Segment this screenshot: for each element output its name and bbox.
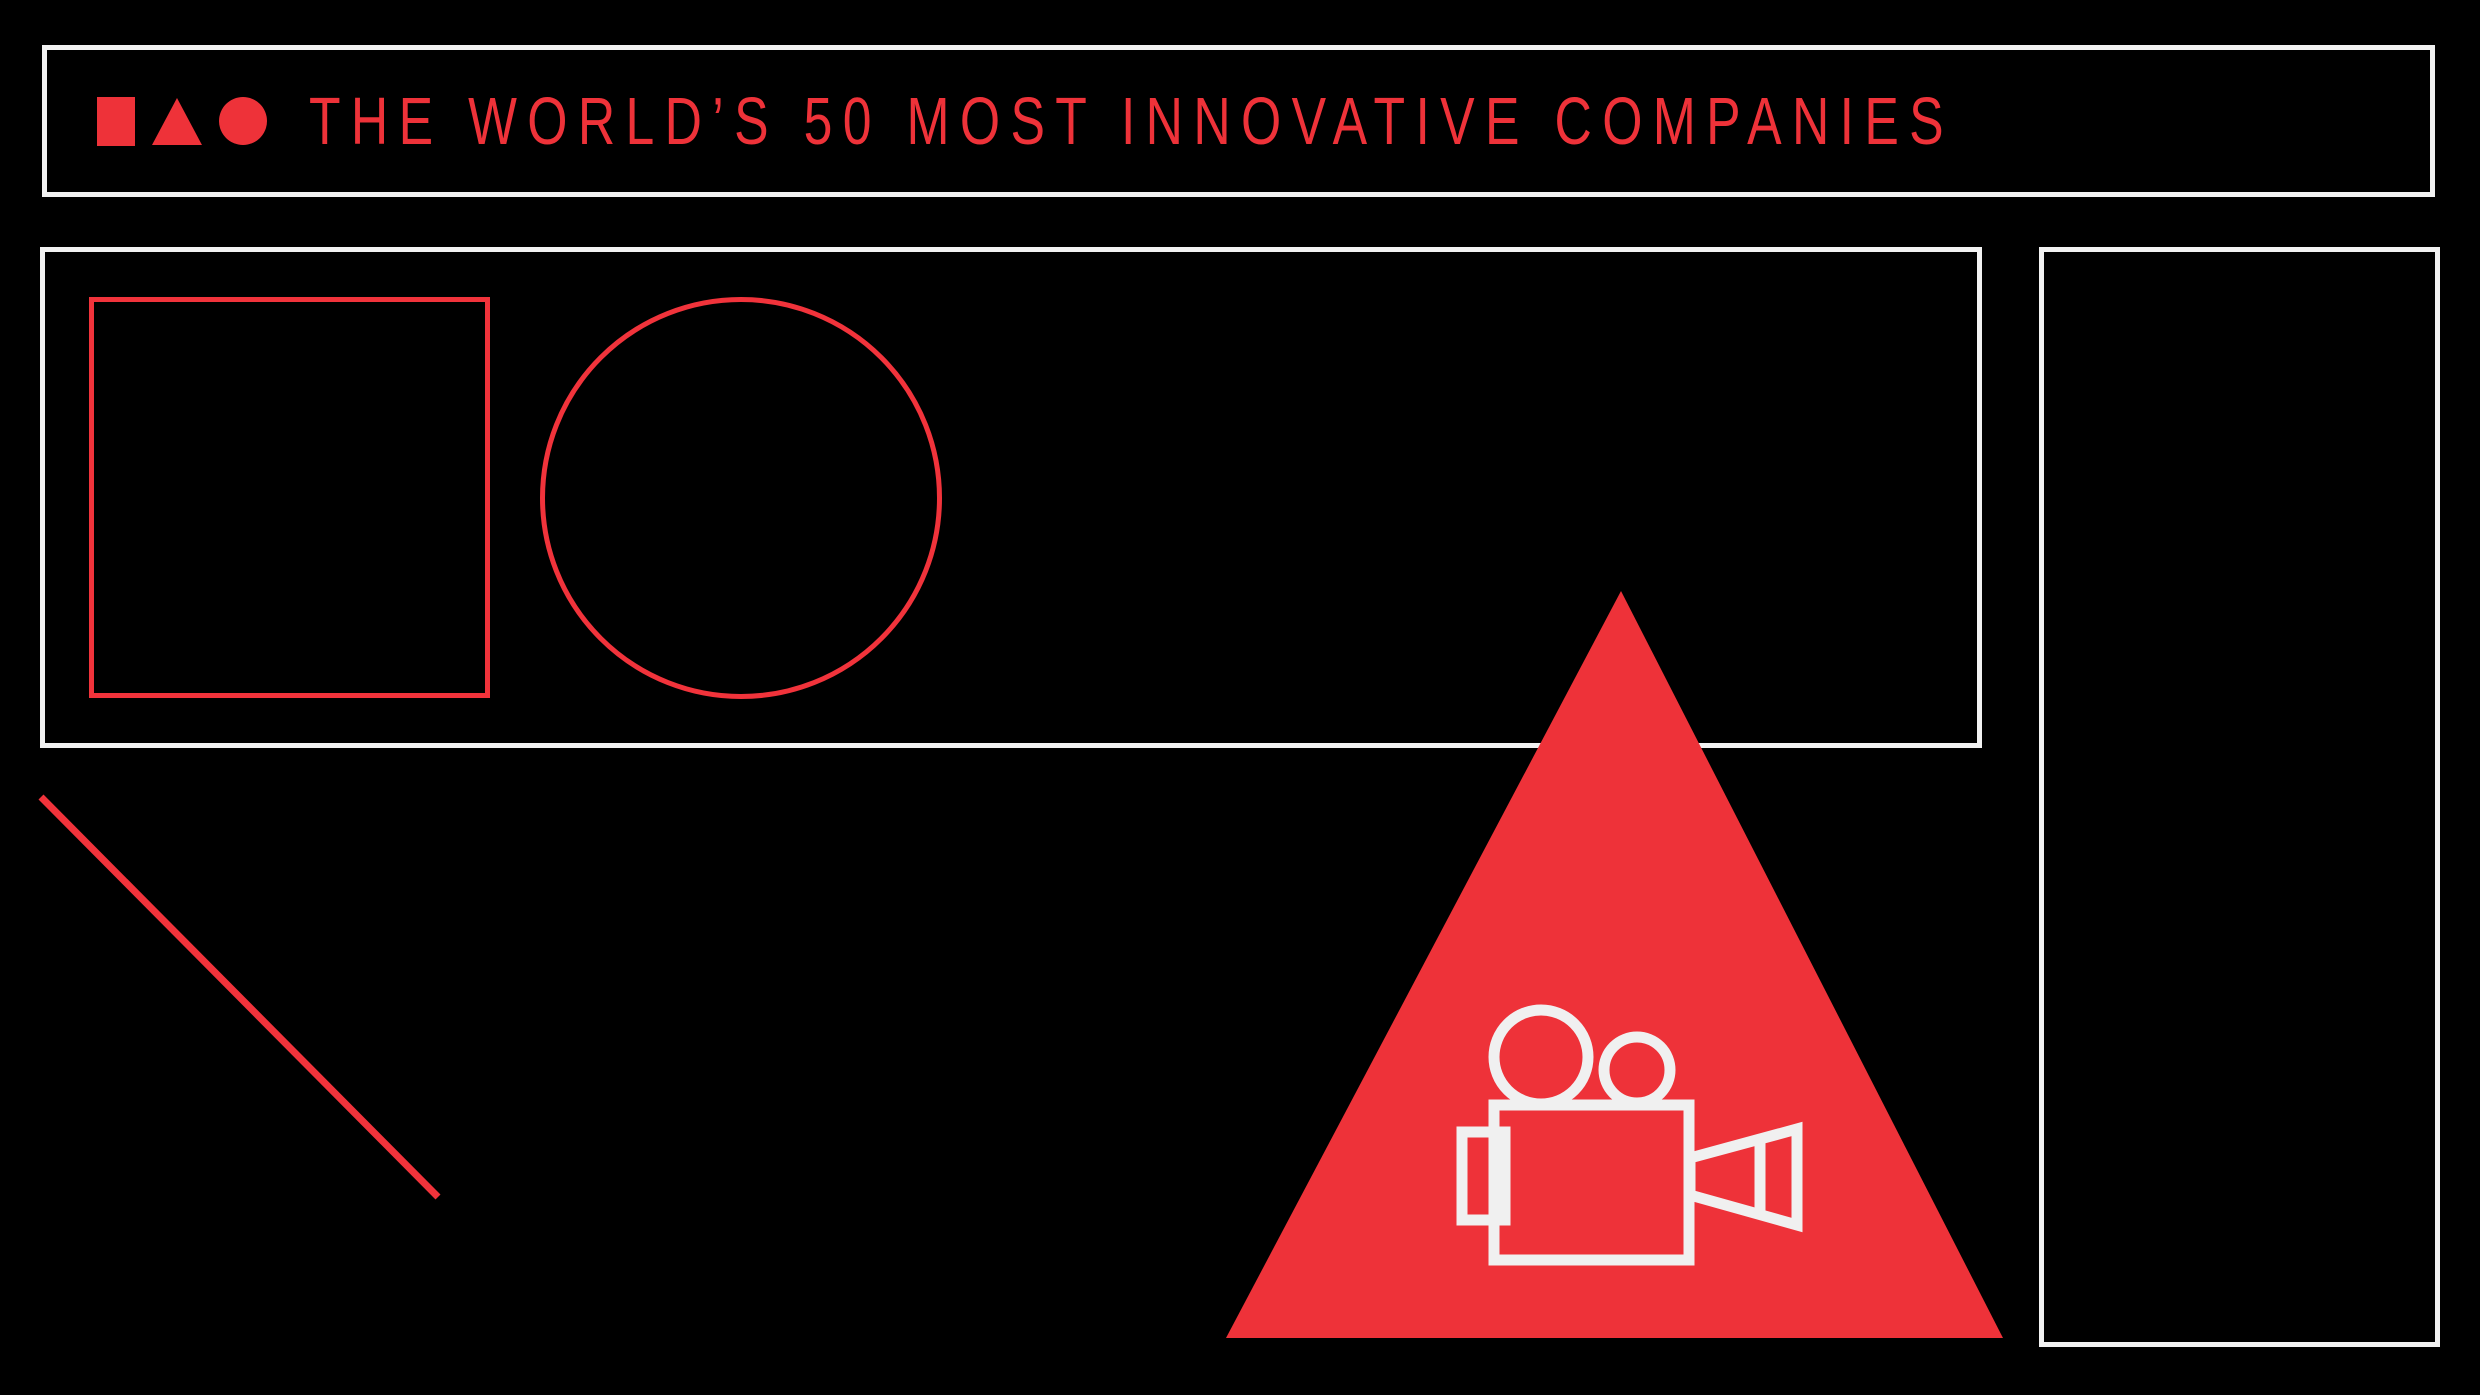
- side-content-frame: [2039, 247, 2440, 1347]
- red-square-outline-shape: [89, 297, 490, 698]
- movie-camera-icon: [1449, 995, 1829, 1285]
- camera-small-reel: [1604, 1037, 1670, 1103]
- red-circle-outline-shape: [540, 297, 942, 699]
- circle-mark-icon: [219, 97, 267, 145]
- camera-lens-cone: [1690, 1129, 1797, 1225]
- page-title: THE WORLD’S 50 MOST INNOVATIVE COMPANIES: [309, 87, 1954, 154]
- diagonal-line-stroke: [41, 797, 438, 1197]
- red-diagonal-line-shape: [0, 740, 520, 1260]
- square-mark-icon: [97, 97, 135, 146]
- triangle-mark-icon: [152, 98, 202, 145]
- logo-marks: [97, 97, 267, 146]
- header-banner: THE WORLD’S 50 MOST INNOVATIVE COMPANIES: [42, 45, 2435, 197]
- camera-body: [1494, 1105, 1689, 1260]
- camera-large-reel: [1494, 1010, 1588, 1104]
- header-inner: THE WORLD’S 50 MOST INNOVATIVE COMPANIES: [47, 94, 2059, 149]
